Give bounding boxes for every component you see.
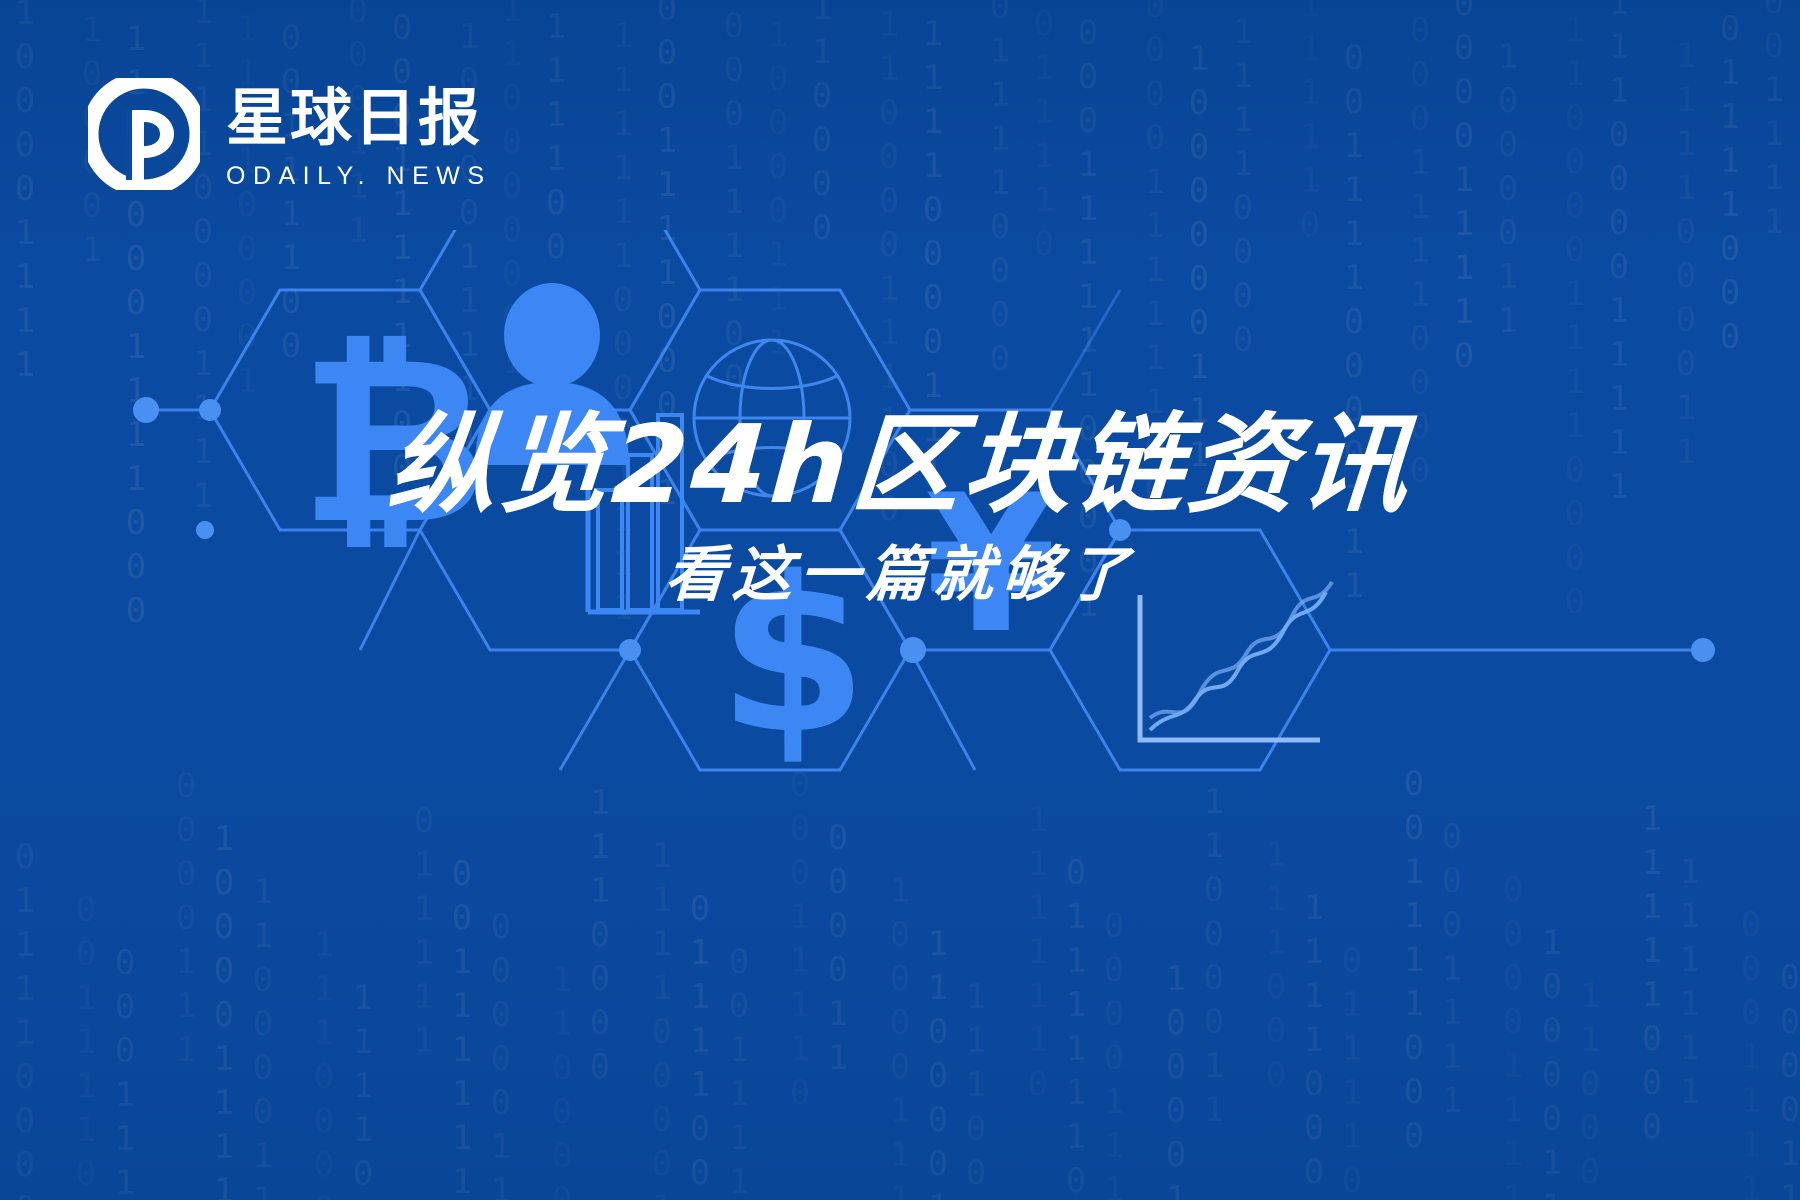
dollar-icon: $ <box>718 530 868 781</box>
headline-main-title: 纵览24h区块链资讯 <box>0 408 1800 524</box>
svg-text:$: $ <box>718 530 868 781</box>
user-avatar-icon <box>475 283 629 465</box>
brand-logo[interactable]: 星球日报 ODAILY. NEWS <box>88 78 492 190</box>
svg-text:¥: ¥ <box>925 454 1057 675</box>
headline-subtitle: 看这一篇就够了 <box>0 540 1800 610</box>
line-chart-icon <box>1140 582 1332 740</box>
brand-name-en: ODAILY. NEWS <box>226 162 492 190</box>
poster-canvas: 1000011111100001111000011110001111000011… <box>0 0 1800 1200</box>
svg-text:₿: ₿ <box>300 308 487 575</box>
bar-chart-icon <box>588 405 700 612</box>
bitcoin-icon: ₿ <box>300 308 487 575</box>
hexagon-network-graphic: ₿ $ ¥ <box>0 230 1800 810</box>
odaily-circle-p-logo-icon <box>88 78 200 190</box>
globe-icon <box>694 340 850 496</box>
yen-icon: ¥ <box>925 454 1057 675</box>
headline-block: 纵览24h区块链资讯 看这一篇就够了 <box>0 408 1800 610</box>
brand-name-cn: 星球日报 <box>226 84 492 152</box>
network-nodes <box>133 397 1715 663</box>
